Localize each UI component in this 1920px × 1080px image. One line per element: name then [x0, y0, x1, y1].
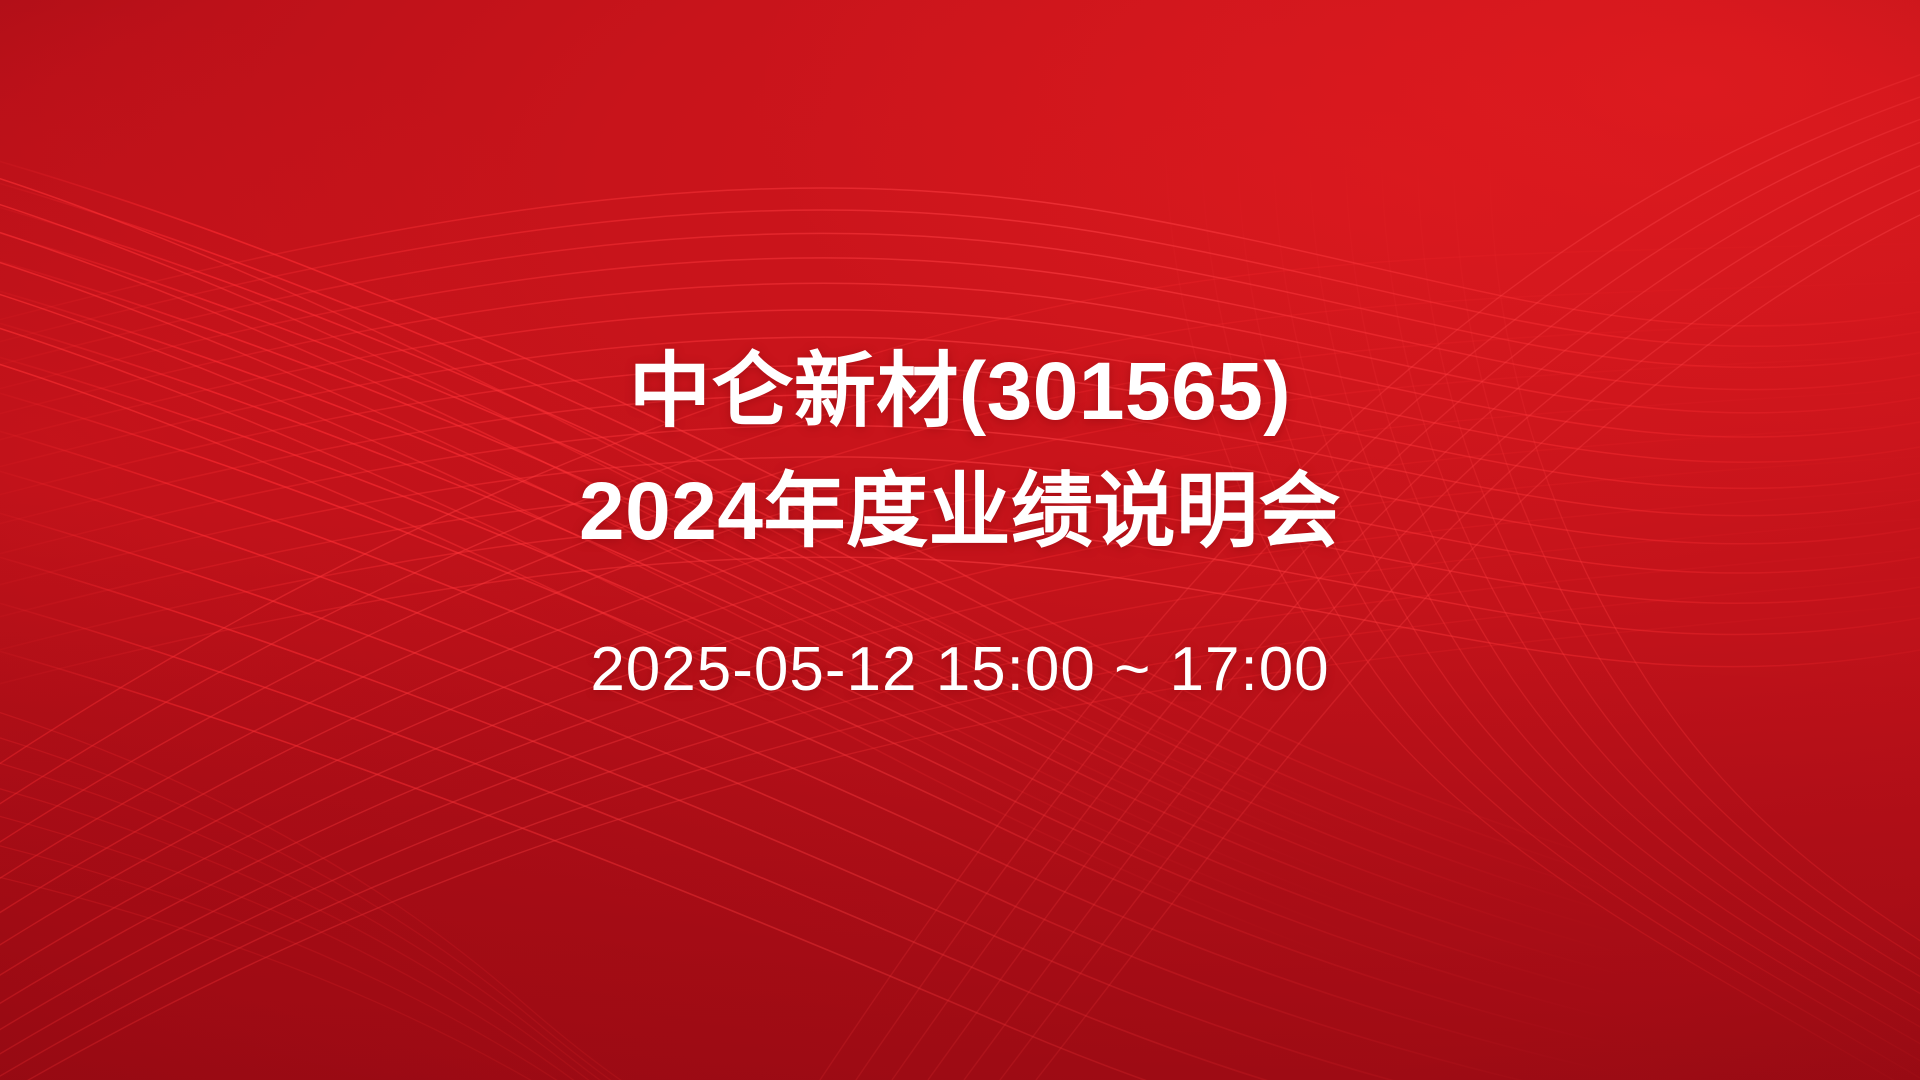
event-datetime: 2025-05-12 15:00 ~ 17:00 — [370, 633, 1550, 707]
event-title: 2024年度业绩说明会 — [370, 457, 1550, 567]
banner-content: 中仑新材(301565) 2024年度业绩说明会 2025-05-12 15:0… — [0, 0, 1920, 1080]
company-title: 中仑新材(301565) — [370, 337, 1550, 447]
event-banner: 中仑新材(301565) 2024年度业绩说明会 2025-05-12 15:0… — [0, 0, 1920, 1080]
title-block: 中仑新材(301565) 2024年度业绩说明会 2025-05-12 15:0… — [370, 337, 1550, 707]
